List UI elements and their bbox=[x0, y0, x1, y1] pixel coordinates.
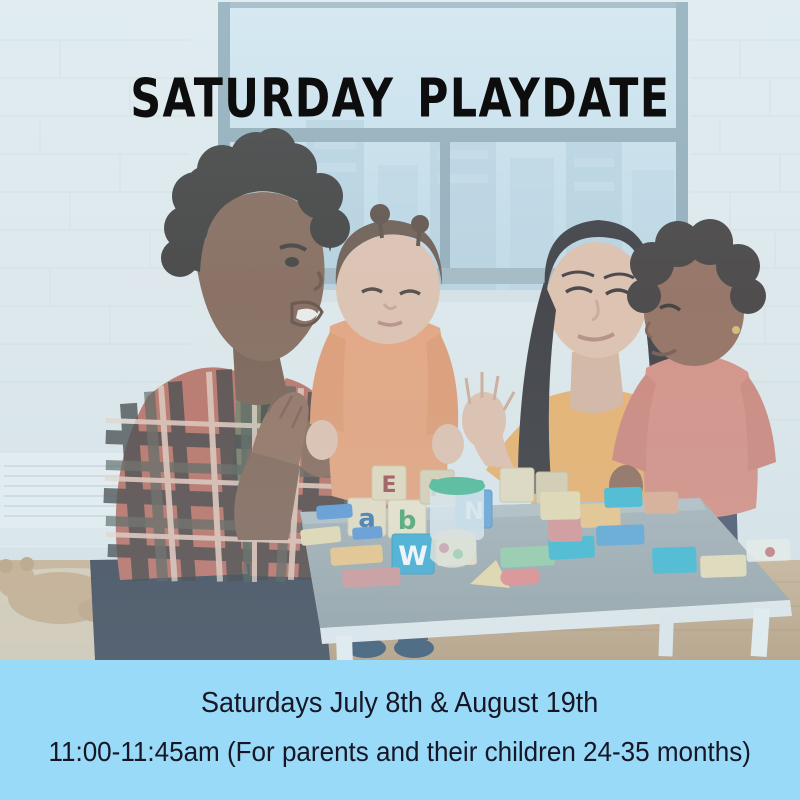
pigtail-right bbox=[411, 215, 429, 233]
eye-adult-left bbox=[285, 257, 299, 267]
event-time-and-audience-line: 11:00-11:45am (For parents and their chi… bbox=[49, 736, 751, 768]
earring bbox=[732, 326, 740, 334]
pigtail-left bbox=[370, 204, 390, 224]
table-leg-mid bbox=[658, 612, 674, 656]
table-leg-right bbox=[751, 608, 770, 657]
svg-text:W: W bbox=[398, 541, 428, 572]
playdate-flyer: a b W E F N bbox=[0, 0, 800, 800]
event-dates-line: Saturdays July 8th & August 19th bbox=[201, 687, 598, 720]
playdate-photo: a b W E F N bbox=[0, 0, 800, 660]
svg-text:b: b bbox=[398, 506, 417, 536]
svg-text:E: E bbox=[381, 473, 396, 498]
photo-illustration: a b W E F N bbox=[0, 0, 800, 660]
info-band: Saturdays July 8th & August 19th 11:00-1… bbox=[0, 660, 800, 800]
table-leg-left bbox=[336, 635, 353, 660]
window-mullion-vertical bbox=[440, 142, 450, 268]
